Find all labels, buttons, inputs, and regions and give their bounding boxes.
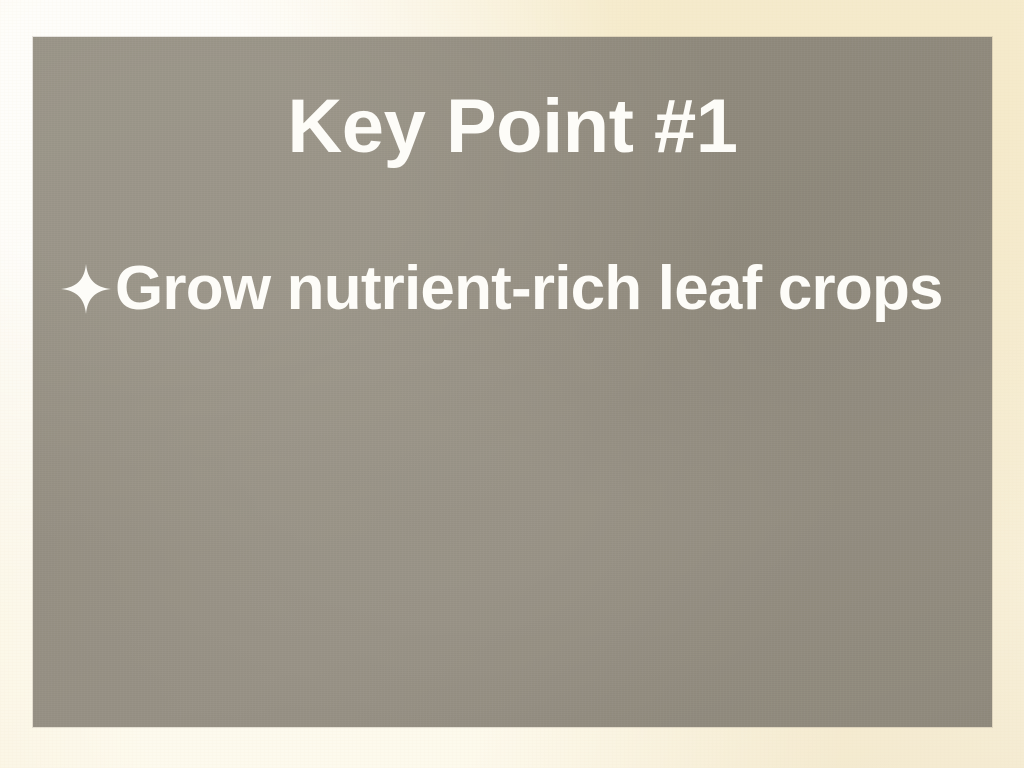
- slide-content-panel: Key Point #1 Grow nutrient-rich leaf cro…: [33, 37, 992, 727]
- page-title: Key Point #1: [33, 89, 992, 165]
- list-item: Grow nutrient-rich leaf crops: [57, 256, 984, 321]
- bullet-list: Grow nutrient-rich leaf crops: [57, 256, 984, 339]
- four-pointed-star-icon: [57, 258, 115, 320]
- list-item-label: Grow nutrient-rich leaf crops: [115, 256, 984, 321]
